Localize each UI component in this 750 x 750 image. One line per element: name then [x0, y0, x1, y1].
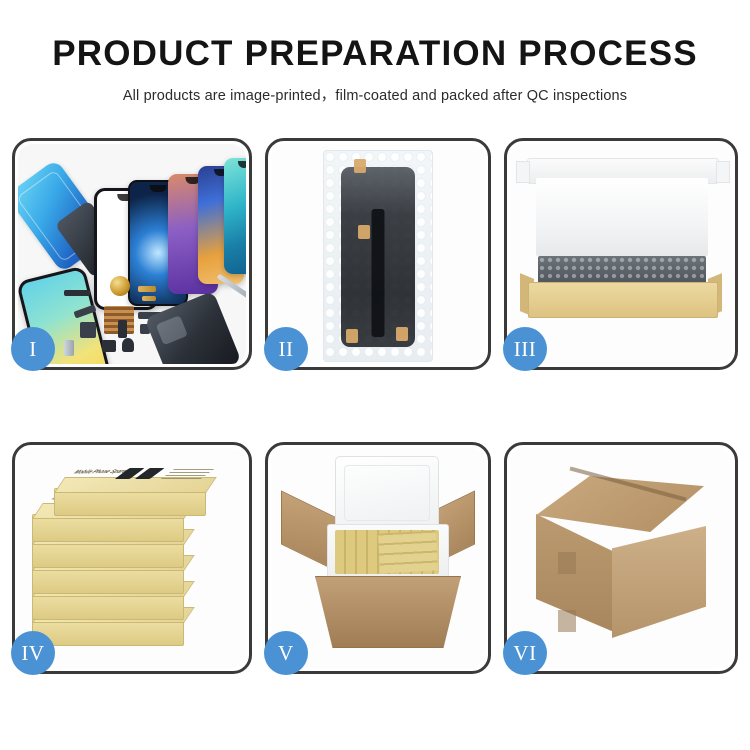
tape-graphic — [354, 159, 366, 173]
process-step-2: II — [265, 138, 491, 370]
step-2-image — [271, 144, 485, 364]
part-graphic — [64, 340, 74, 356]
step-5-image — [271, 448, 485, 668]
carton-tape-graphic — [558, 610, 576, 632]
part-graphic — [118, 320, 127, 338]
phone-front-teal-graphic — [224, 158, 246, 274]
tape-graphic — [396, 327, 408, 341]
page-title: PRODUCT PREPARATION PROCESS — [0, 36, 750, 73]
carton-top-face-graphic — [536, 476, 704, 532]
retail-box-graphic: Mobile Phone Spare Parts — [32, 514, 184, 542]
box-front-panel-graphic — [528, 282, 718, 318]
step-badge-6: VI — [503, 631, 547, 675]
retail-box-graphic — [32, 566, 184, 594]
step-badge-2: II — [264, 327, 308, 371]
tape-graphic — [358, 225, 370, 239]
retail-box-graphic — [32, 540, 184, 568]
flex-cable-graphic — [372, 209, 385, 337]
box-label-lines — [161, 468, 216, 479]
step-1-image — [18, 144, 246, 364]
process-step-grid: I II — [12, 138, 738, 674]
step-4-image: Mobile Phone Spare Parts Mobile Phone Sp… — [18, 448, 246, 668]
box-stack-graphic: Mobile Phone Spare Parts Mobile Phone Sp… — [32, 466, 232, 662]
part-graphic — [122, 338, 134, 352]
speaker-coil-part-graphic — [110, 276, 130, 296]
part-graphic — [64, 290, 90, 296]
step-6-image — [510, 448, 732, 668]
retail-box-graphic — [32, 592, 184, 620]
page-subtitle: All products are image-printed，film-coat… — [0, 84, 750, 105]
white-foam-sheet-graphic — [536, 178, 708, 256]
step-badge-4: IV — [11, 631, 55, 675]
header: PRODUCT PREPARATION PROCESS All products… — [0, 0, 750, 105]
process-step-5: V — [265, 442, 491, 674]
step-3-image — [510, 144, 732, 364]
process-step-3: III — [504, 138, 738, 370]
part-graphic — [138, 286, 156, 292]
step-badge-1: I — [11, 327, 55, 371]
tape-graphic — [346, 329, 358, 343]
part-graphic — [102, 340, 116, 352]
step-badge-5: V — [264, 631, 308, 675]
part-graphic — [80, 322, 96, 338]
carton-right-face-graphic — [612, 526, 706, 638]
process-step-4: Mobile Phone Spare Parts Mobile Phone Sp… — [12, 442, 252, 674]
part-graphic — [142, 296, 156, 301]
retail-box-graphic — [32, 618, 184, 646]
bubble-wrap-bag-graphic — [323, 150, 433, 362]
process-step-1: I — [12, 138, 252, 370]
box-lid-face: Mobile Phone Spare Parts — [54, 477, 217, 493]
carton-body-graphic — [315, 576, 461, 648]
carton-tape-graphic — [558, 552, 576, 574]
step-badge-3: III — [503, 327, 547, 371]
packed-boxes-graphic — [378, 531, 438, 574]
styrofoam-lid-graphic — [335, 456, 439, 530]
product-preparation-infographic: PRODUCT PREPARATION PROCESS All products… — [0, 0, 750, 750]
gray-foam-insert-graphic — [538, 256, 706, 284]
retail-box-graphic-top: Mobile Phone Spare Parts — [54, 488, 206, 516]
process-step-6: VI — [504, 442, 738, 674]
